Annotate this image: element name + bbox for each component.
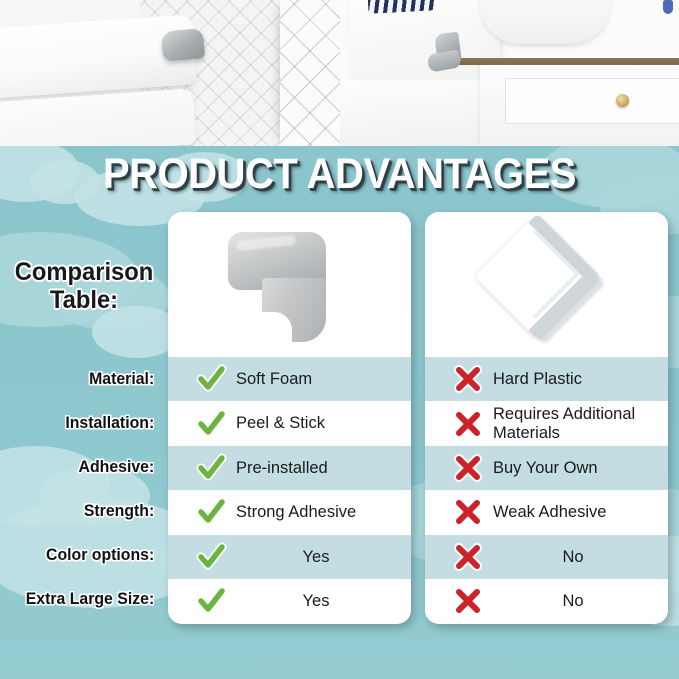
red-cross-icon xyxy=(451,409,485,439)
value-row-material: Hard Plastic xyxy=(425,357,668,401)
green-check-icon xyxy=(194,364,228,394)
row-label-strength: Strength: xyxy=(6,489,160,533)
row-label-color-options: Color options: xyxy=(6,533,160,577)
installed-foam-guard-icon xyxy=(161,28,205,62)
red-cross-icon xyxy=(451,586,485,616)
row-label-material: Material: xyxy=(6,357,160,401)
photo-foam-guard-on-furniture xyxy=(0,0,340,146)
value-text: Weak Adhesive xyxy=(493,503,606,521)
page-title: PRODUCT ADVANTAGES xyxy=(24,150,655,199)
row-label-column: Material: Installation: Adhesive: Streng… xyxy=(0,357,160,621)
row-label-installation: Installation: xyxy=(6,401,160,445)
value-row-adhesive: Buy Your Own xyxy=(425,446,668,490)
value-row-color-options: No xyxy=(425,535,668,579)
comparison-table-label: Comparison Table: xyxy=(8,258,160,314)
value-row-installation: Requires Additional Materials xyxy=(425,401,668,445)
gray-foam-corner-guard-icon xyxy=(220,226,328,344)
product-photo-band xyxy=(0,0,679,146)
value-text: Soft Foam xyxy=(236,370,312,388)
value-text: Yes xyxy=(236,548,396,566)
plastic-guard-value-rows: Hard Plastic Requires Additional Materia… xyxy=(425,357,668,623)
green-check-icon xyxy=(194,586,228,616)
value-text: Requires Additional Materials xyxy=(493,405,635,442)
value-row-extra-large-size: Yes xyxy=(168,579,411,623)
red-cross-icon xyxy=(451,364,485,394)
value-row-adhesive: Pre-installed xyxy=(168,446,411,490)
comparison-card-foam-guard: Soft Foam Peel & Stick xyxy=(168,212,411,624)
foam-guard-value-rows: Soft Foam Peel & Stick xyxy=(168,357,411,623)
wooden-table-edge xyxy=(440,58,679,65)
value-row-installation: Peel & Stick xyxy=(168,401,411,445)
row-label-extra-large-size: Extra Large Size: xyxy=(6,577,160,621)
plastic-guard-product-image xyxy=(425,212,668,357)
patterned-wall-panel xyxy=(280,0,340,146)
value-text: No xyxy=(493,592,653,610)
red-cross-icon xyxy=(451,542,485,572)
row-label-adhesive: Adhesive: xyxy=(6,445,160,489)
green-check-icon xyxy=(194,542,228,572)
value-text: Strong Adhesive xyxy=(236,503,356,521)
red-cross-icon xyxy=(451,453,485,483)
value-text: Peel & Stick xyxy=(236,414,325,432)
value-text: No xyxy=(493,548,653,566)
green-check-icon xyxy=(194,453,228,483)
foam-guard-product-image xyxy=(168,212,411,357)
value-row-strength: Weak Adhesive xyxy=(425,490,668,534)
table-drawer xyxy=(505,78,679,124)
green-check-icon xyxy=(194,409,228,439)
value-text: Pre-installed xyxy=(236,459,328,477)
value-text: Buy Your Own xyxy=(493,459,598,477)
value-row-color-options: Yes xyxy=(168,535,411,579)
value-row-extra-large-size: No xyxy=(425,579,668,623)
comparison-card-plastic-guard: Hard Plastic Requires Additional Materia… xyxy=(425,212,668,624)
product-advantages-infographic: PRODUCT ADVANTAGES Comparison Table: Mat… xyxy=(0,0,679,679)
white-furniture-edge-lower xyxy=(0,88,197,146)
red-cross-icon xyxy=(451,497,485,527)
photo-guard-on-table xyxy=(340,0,679,146)
wooden-table-top xyxy=(440,36,679,60)
brass-knob-icon xyxy=(616,94,629,107)
value-row-strength: Strong Adhesive xyxy=(168,490,411,534)
value-row-material: Soft Foam xyxy=(168,357,411,401)
value-text: Yes xyxy=(236,592,396,610)
value-text: Hard Plastic xyxy=(493,370,582,388)
green-check-icon xyxy=(194,497,228,527)
clear-plastic-corner-guard-icon xyxy=(485,224,595,344)
blue-accent-object xyxy=(663,0,673,14)
